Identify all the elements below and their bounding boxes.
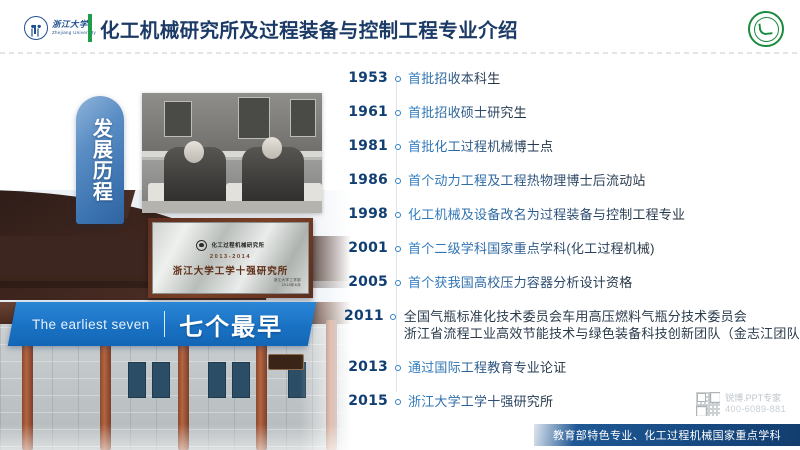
plaque-institute-row: 化工过程机械研究所 <box>196 240 264 251</box>
timeline-description-line: 浙江省流程工业高效节能技术与绿色装备科技创新团队（金志江团队） <box>404 325 800 342</box>
building-window <box>208 362 226 398</box>
photo-person-right-head <box>262 137 282 159</box>
photo-person-left-head <box>184 141 204 163</box>
timeline-description: 首个二级学科国家重点学科(化工过程机械) <box>408 240 655 257</box>
timeline-item: 2005首个获我国高校压力容器分析设计资格 <box>344 274 794 291</box>
timeline-item: 1961首批招收硕士研究生 <box>344 104 794 121</box>
timeline-description-line: 全国气瓶标准化技术委员会车用高压燃料气瓶分技术委员会 <box>404 308 800 325</box>
slide-header: 浙江大学 Zhejiang University 化工机械研究所及过程装备与控制… <box>0 0 800 56</box>
timeline-description: 化工机械及设备改名为过程装备与控制工程专业 <box>408 206 685 223</box>
qr-code-icon <box>696 392 720 416</box>
zju-seal-icon <box>24 16 48 40</box>
footer-text: 教育部特色专业、化工过程机械国家重点学科 <box>553 427 781 443</box>
earliest-seven-banner: The earliest seven 七个最早 <box>8 302 317 346</box>
earliest-seven-chinese: 七个最早 <box>179 307 283 342</box>
timeline-bullet-icon <box>388 206 408 223</box>
photo-floor <box>142 201 322 213</box>
plaque-institute: 化工过程机械研究所 <box>211 241 264 249</box>
photo-window <box>290 99 316 137</box>
timeline-bullet-icon <box>388 274 408 291</box>
building-window <box>152 362 170 398</box>
slide-root: 浙江大学 Zhejiang University 化工机械研究所及过程装备与控制… <box>0 0 800 450</box>
timeline-description: 首个获我国高校压力容器分析设计资格 <box>408 274 632 291</box>
watermark-phone: 400-6089-881 <box>725 404 786 415</box>
plaque-signature-date: 2015年6月 <box>274 283 301 288</box>
timeline-bullet-icon <box>388 138 408 155</box>
timeline-year: 2011 <box>344 308 384 325</box>
award-plaque: 化工过程机械研究所 2013-2014 浙江大学工学十强研究所 浙江大学工学部 … <box>148 218 313 298</box>
timeline-item: 2013通过国际工程教育专业论证 <box>344 359 794 376</box>
slide-footer: 教育部特色专业、化工过程机械国家重点学科 <box>534 424 800 446</box>
background-fade-bottom <box>0 424 355 450</box>
plaque-years: 2013-2014 <box>210 254 251 260</box>
plaque-seal-icon <box>196 240 207 251</box>
timeline-description: 首批招收硕士研究生 <box>408 104 527 121</box>
timeline-year: 1998 <box>344 206 388 223</box>
department-emblem-icon <box>748 11 784 47</box>
building-window <box>232 362 250 398</box>
header-divider <box>0 52 800 54</box>
timeline-description: 浙江大学工学十强研究所 <box>408 393 553 410</box>
timeline-description: 首个动力工程及工程热物理博士后流动站 <box>408 172 646 189</box>
watermark-text: 锐博.PPT专家 400-6089-881 <box>725 393 786 414</box>
timeline-bullet-icon <box>384 308 404 325</box>
plaque-award-title: 浙江大学工学十强研究所 <box>173 263 289 277</box>
timeline-description: 通过国际工程教育专业论证 <box>408 359 566 376</box>
timeline-year: 2001 <box>344 240 388 257</box>
timeline-year: 1986 <box>344 172 388 189</box>
timeline-year: 2013 <box>344 359 388 376</box>
timeline-description: 首批招收本科生 <box>408 70 500 87</box>
timeline-year: 2005 <box>344 274 388 291</box>
timeline-item: 2001首个二级学科国家重点学科(化工过程机械) <box>344 240 794 257</box>
title-accent-bar <box>88 14 92 42</box>
timeline-bullet-icon <box>388 70 408 87</box>
development-timeline: 1953首批招收本科生1961首批招收硕士研究生1981首批化工过程机械博士点1… <box>344 68 794 398</box>
photo-window <box>238 97 270 139</box>
timeline-description: 全国气瓶标准化技术委员会车用高压燃料气瓶分技术委员会浙江省流程工业高效节能技术与… <box>404 308 800 342</box>
timeline-year: 1961 <box>344 104 388 121</box>
photo-window <box>164 101 192 137</box>
section-banner-development-history: 发展历程 <box>76 96 124 224</box>
timeline-item: 2011全国气瓶标准化技术委员会车用高压燃料气瓶分技术委员会浙江省流程工业高效节… <box>344 308 794 342</box>
timeline-bullet-icon <box>388 359 408 376</box>
timeline-item: 1986首个动力工程及工程热物理博士后流动站 <box>344 172 794 189</box>
timeline-item: 1953首批招收本科生 <box>344 70 794 87</box>
building-name-board <box>268 354 304 370</box>
watermark: 锐博.PPT专家 400-6089-881 <box>696 392 786 416</box>
timeline-year: 1953 <box>344 70 388 87</box>
timeline-year: 1981 <box>344 138 388 155</box>
section-banner-label: 发展历程 <box>90 118 111 202</box>
building-window <box>128 362 146 398</box>
historical-photo <box>142 93 322 213</box>
banner-divider <box>164 311 166 337</box>
timeline-description: 首批化工过程机械博士点 <box>408 138 553 155</box>
page-title: 化工机械研究所及过程装备与控制工程专业介绍 <box>100 13 518 43</box>
timeline-bullet-icon <box>388 393 408 410</box>
earliest-seven-english: The earliest seven <box>32 317 150 332</box>
zhejiang-university-logo: 浙江大学 Zhejiang University <box>24 14 90 42</box>
plaque-signature: 浙江大学工学部 2015年6月 <box>274 278 301 288</box>
timeline-bullet-icon <box>388 240 408 257</box>
timeline-bullet-icon <box>388 172 408 189</box>
award-plaque-face: 化工过程机械研究所 2013-2014 浙江大学工学十强研究所 浙江大学工学部 … <box>152 222 309 294</box>
timeline-year: 2015 <box>344 393 388 410</box>
timeline-item: 1981首批化工过程机械博士点 <box>344 138 794 155</box>
timeline-item: 1998化工机械及设备改名为过程装备与控制工程专业 <box>344 206 794 223</box>
timeline-bullet-icon <box>388 104 408 121</box>
earliest-seven-banner-inner: The earliest seven 七个最早 <box>12 302 312 346</box>
watermark-name: 锐博.PPT专家 <box>725 393 786 404</box>
